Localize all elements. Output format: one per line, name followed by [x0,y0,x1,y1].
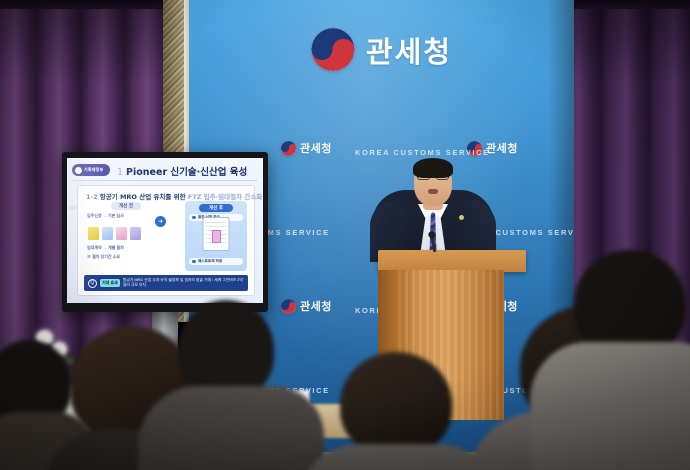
slide-summary-bar: Q 기대 효과 항공기 MRO 산업 투자 유치 활성화 및 일자리 창출 기대… [84,275,248,291]
summary-text: 항공기 MRO 산업 투자 유치 활성화 및 일자리 창출 기대 / 세계 그린… [123,278,244,288]
before-label-chip: 개선 전 [111,202,141,210]
speaker-mouth [428,189,438,194]
podium-top [378,250,526,272]
audience-member [168,300,298,470]
after-row-label: 통합 신청 창구 [198,215,220,220]
backdrop-wordmark: KOREA CUSTOMS SERVICE [355,148,490,157]
curtain-rod-right [560,0,690,9]
lapel-pin-icon [459,215,464,220]
stamp-icon [116,227,127,240]
after-row-label: 패스트트랙 적용 [198,259,222,264]
flow-line-2: 임대계약 → 개별 절차 [87,245,124,251]
logo-text-mini: 관세청 [486,140,518,156]
magnifier-icon: Q [88,279,97,288]
audience-member [556,250,690,470]
airplane-graphic-icon [69,191,115,217]
taegeuk-icon [311,28,354,71]
press-briefing-photo: 관세청 관세청 관세청 관세청 관세청 KOR [0,0,690,470]
slide-divider [73,180,257,181]
after-row: 패스트트랙 적용 [189,258,243,265]
logo-text-mini: 관세청 [300,298,332,314]
logo-text-main: 관세청 [366,29,452,71]
speaker-hair [413,158,453,178]
slide-subsection-number: 1-2 [86,193,98,201]
arrow-right-icon: ➜ [155,216,166,227]
slide-title-text: Pioneer 신기술·신산업 육성 [126,167,247,178]
form-icon [102,227,113,240]
folder-icon [130,227,141,240]
after-row: 통합 신청 창구 [189,214,243,221]
after-label-chip: 개선 후 [199,204,233,212]
summary-tag: 기대 효과 [100,279,120,287]
presentation-slide: 기획재정부 1Pioneer 신기술·신산업 육성 1-2항공기 MRO 산업 … [67,158,263,303]
audience-member [320,352,470,470]
slide-subsection-title: 1-2항공기 MRO 산업 유치를 위한 FTZ 입주·임대절차 간소화 [86,191,262,201]
slide-subsection-plain: 항공기 MRO 산업 유치를 위한 [100,193,188,201]
presentation-monitor[interactable]: 기획재정부 1Pioneer 신기술·신산업 육성 1-2항공기 MRO 산업 … [62,152,268,312]
check-icon [192,260,196,264]
before-flow-diagram: 입주신청 → 기본 심사 임대계약 → 개별 절차 ※ 절차 장기간 소요 [85,213,177,265]
slide-title: 1Pioneer 신기술·신산업 육성 [117,164,257,178]
document-icon [88,227,99,240]
slide-subsection-highlight: FTZ 입주·임대절차 간소화 [188,193,262,201]
slide-section-number: 1 [117,167,123,178]
after-panel: 개선 후 통합 신청 창구 패스트트랙 적용 [185,201,247,271]
slide-badge: 기획재정부 [72,164,110,176]
logo-text-mini: 관세청 [300,140,332,156]
slide-badge-label: 기획재정부 [84,167,103,173]
taegeuk-icon [281,141,296,156]
korea-customs-logo-mini: 관세청 [281,140,332,156]
monitor-screen: 기획재정부 1Pioneer 신기술·신산업 육성 1-2항공기 MRO 산업 … [67,158,263,303]
slide-content-card: 1-2항공기 MRO 산업 유치를 위한 FTZ 입주·임대절차 간소화 개선 … [77,185,255,296]
flow-icon-group [88,227,141,240]
flow-line-1: 입주신청 → 기본 심사 [87,213,124,219]
document-mock-icon [203,217,230,251]
check-icon [192,216,196,220]
approval-stamp-icon [212,230,221,243]
curtain-rod-left [0,0,165,9]
flow-line-3: ※ 절차 장기간 소요 [87,254,120,260]
korea-customs-logo-main: 관세청 [311,28,452,71]
ministry-emblem-icon [75,167,82,174]
